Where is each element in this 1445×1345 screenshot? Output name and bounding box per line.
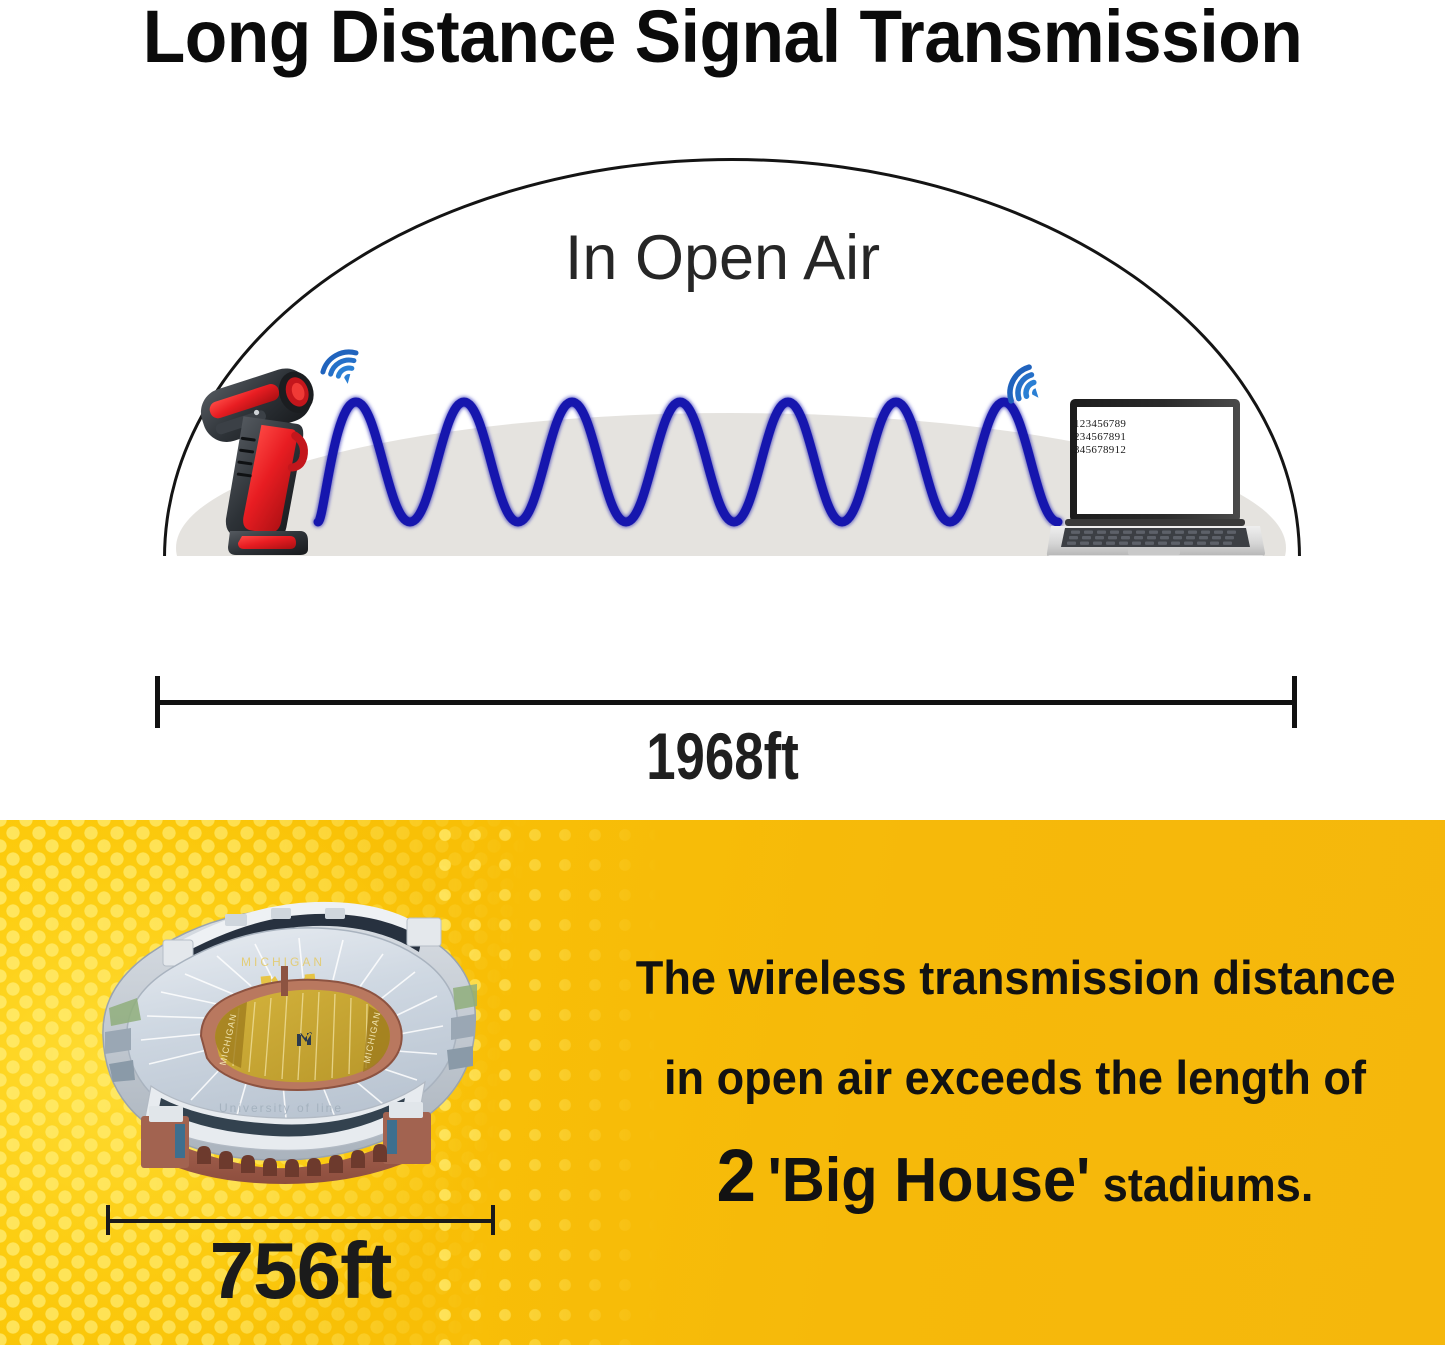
page-title: Long Distance Signal Transmission xyxy=(43,0,1401,79)
michigan-stadium-icon: MICHIGAN MICHIGAN MICHIGAN xyxy=(75,868,495,1188)
barcode-scanner-icon xyxy=(196,355,326,560)
open-air-label: In Open Air xyxy=(0,222,1445,294)
comparison-caption: The wireless transmission distance in op… xyxy=(620,928,1410,1233)
barcode-line: 123456789 xyxy=(1074,418,1194,431)
laptop-screen-barcodes: 123456789 234567891 345678912 xyxy=(1074,418,1194,457)
open-air-section: Long Distance Signal Transmission In Ope… xyxy=(0,0,1445,820)
stadium-count: 2 xyxy=(717,1134,756,1217)
caption-line-1: The wireless transmission distance xyxy=(636,928,1394,1028)
caption-line-2: in open air exceeds the length of xyxy=(636,1028,1394,1128)
comparison-section: MICHIGAN MICHIGAN MICHIGAN xyxy=(0,820,1445,1345)
dimension-bar xyxy=(155,700,1297,705)
stadiums-suffix: stadiums. xyxy=(1103,1158,1314,1211)
distance-stadium-label: 756ft xyxy=(106,1225,495,1317)
stadium-name: 'Big House' xyxy=(768,1146,1091,1215)
caption-line-3: 2 'Big House' stadiums. xyxy=(636,1128,1394,1233)
dimension-bar xyxy=(106,1219,495,1223)
barcode-line: 345678912 xyxy=(1074,444,1194,457)
sine-wave-icon xyxy=(310,380,1070,540)
svg-text:University of line: University of line xyxy=(219,1101,343,1115)
barcode-line: 234567891 xyxy=(1074,431,1194,444)
distance-open-air-label: 1968ft xyxy=(145,718,1301,794)
